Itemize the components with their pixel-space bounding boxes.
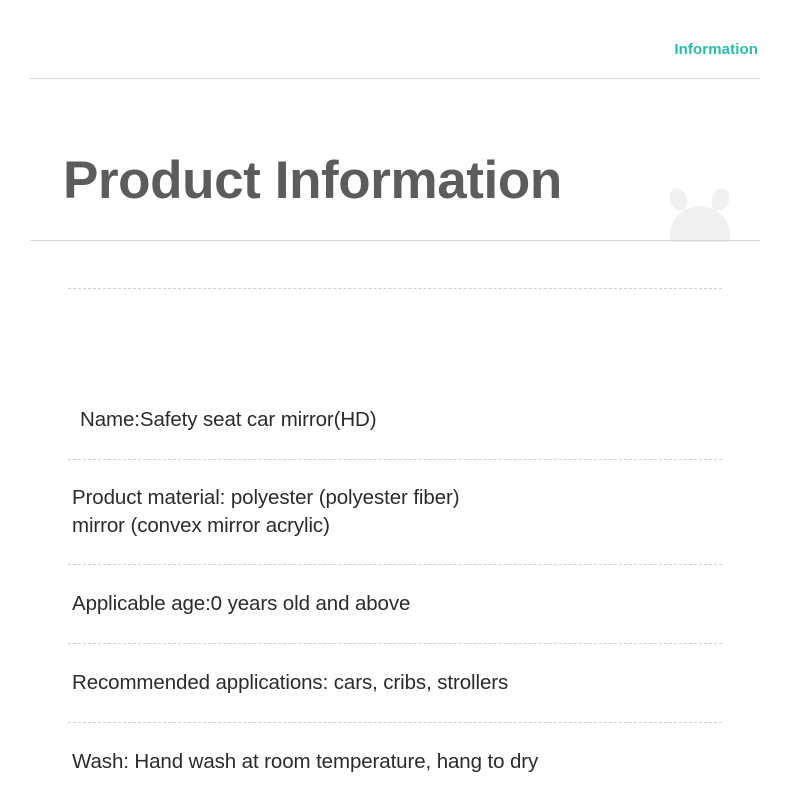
header-divider-bottom <box>30 240 760 241</box>
list-item: Applicable age:0 years old and above <box>68 565 722 643</box>
spec-row-text: Recommended applications: cars, cribs, s… <box>72 669 508 697</box>
list-item: Name:Safety seat car mirror(HD) <box>68 381 722 459</box>
product-information-page: Information Product Information Name:Saf… <box>0 0 790 810</box>
spec-row-text: Wash: Hand wash at room temperature, han… <box>72 748 538 776</box>
bug-mascot-icon <box>660 188 740 242</box>
page-title: Product Information <box>63 151 562 210</box>
product-spec-list: Name:Safety seat car mirror(HD) Product … <box>68 288 722 801</box>
section-eyebrow-label: Information <box>674 42 758 57</box>
list-item: Recommended applications: cars, cribs, s… <box>68 644 722 722</box>
mascot-antenna-left-icon <box>666 188 690 213</box>
spec-row-text: Applicable age:0 years old and above <box>72 590 410 618</box>
list-item: Product material: polyester (polyester f… <box>68 460 722 564</box>
list-item: Wash: Hand wash at room temperature, han… <box>68 723 722 801</box>
header-divider-top <box>30 78 760 79</box>
mascot-dome-icon <box>670 206 730 242</box>
mascot-antenna-right-icon <box>708 188 732 213</box>
spec-row-text: Product material: polyester (polyester f… <box>72 484 459 541</box>
spec-ghost-row <box>68 289 722 381</box>
spec-row-text: Name:Safety seat car mirror(HD) <box>72 406 376 434</box>
